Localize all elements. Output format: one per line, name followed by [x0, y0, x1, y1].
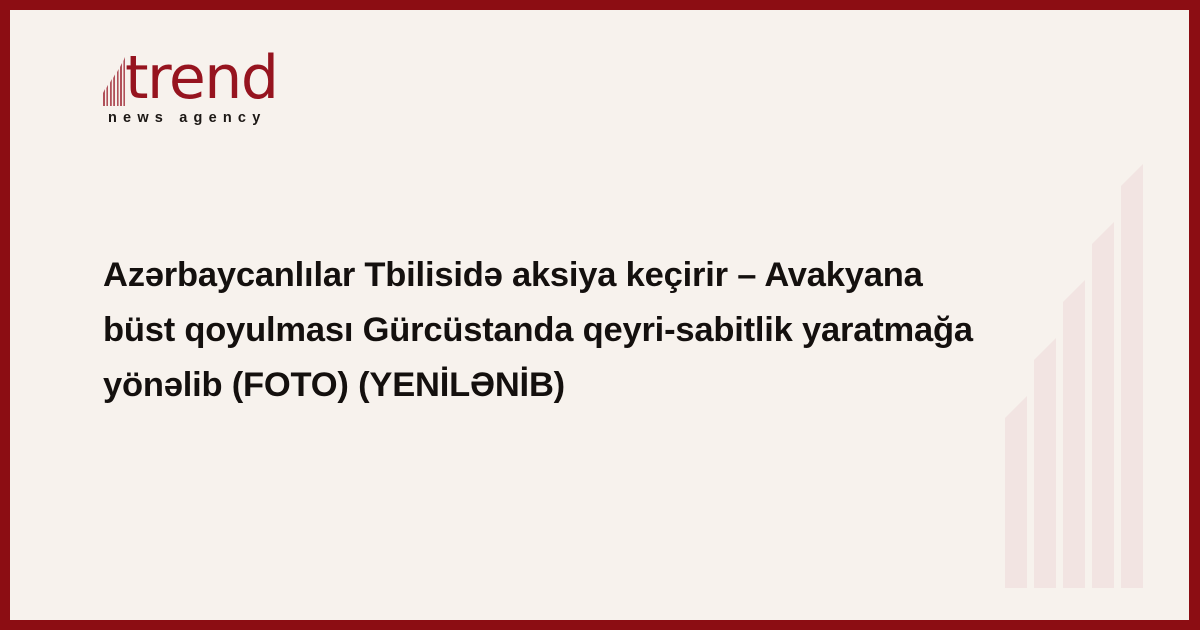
logo-mark-bar — [113, 74, 115, 106]
watermark-bar — [1005, 396, 1027, 588]
headline-line: büst qoyulması Gürcüstanda qeyri-sabitli… — [103, 303, 1078, 358]
logo-mark-bar — [120, 63, 122, 106]
social-share-card: trend news agency Azərbaycanlılar Tbilis… — [0, 0, 1200, 630]
logo-mark-bar — [110, 79, 112, 106]
page-title: Azərbaycanlılar Tbilisidə aksiya keçirir… — [103, 248, 1078, 413]
logo-tagline: news agency — [108, 110, 266, 126]
logo-wordmark: trend — [125, 48, 277, 108]
headline-line: Azərbaycanlılar Tbilisidə aksiya keçirir… — [103, 248, 1078, 303]
watermark-bar — [1121, 164, 1143, 588]
logo-mark-bar — [106, 84, 108, 106]
logo-mark-bar — [103, 89, 105, 106]
watermark-bar — [1092, 222, 1114, 588]
trend-logo[interactable]: trend news agency — [103, 54, 403, 140]
headline-line: yönəlib (FOTO) (YENİLƏNİB) — [103, 358, 1078, 413]
card-canvas: trend news agency Azərbaycanlılar Tbilis… — [10, 10, 1189, 620]
logo-mark-bar — [117, 69, 119, 106]
